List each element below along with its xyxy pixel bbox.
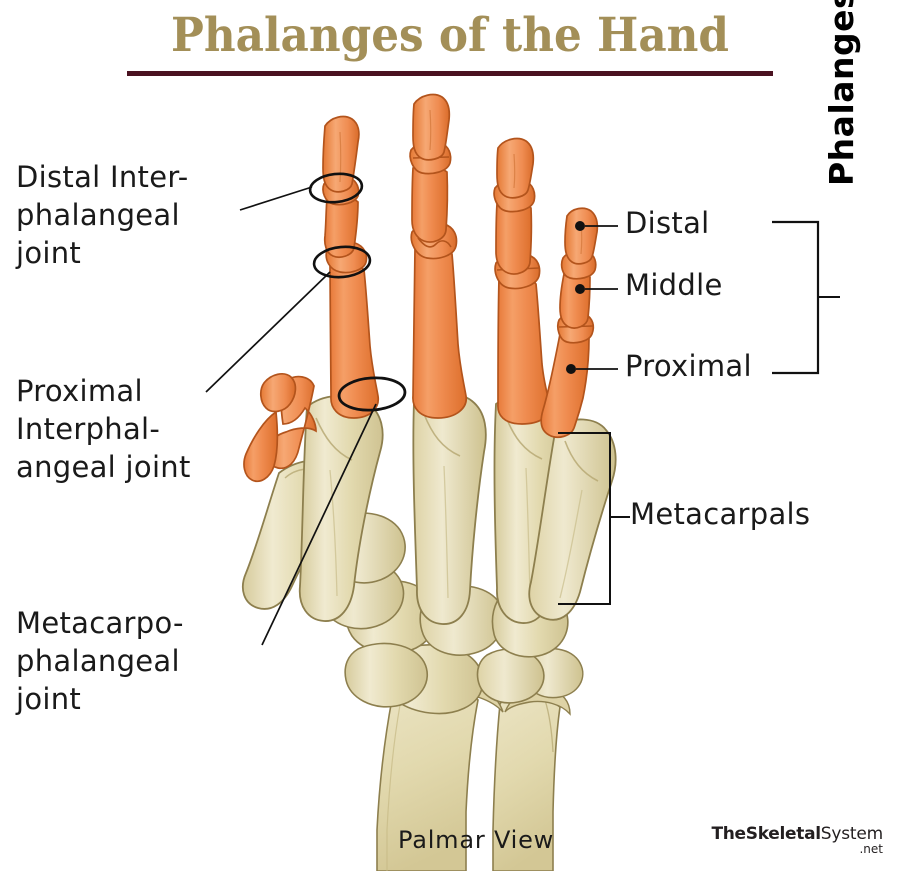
index-finger-phalanges — [323, 117, 378, 418]
pip-leader-line — [206, 272, 330, 392]
label-distal-interphalangeal-joint: Distal Inter- phalangeal joint — [16, 158, 189, 272]
phalanges-bracket — [772, 222, 818, 373]
label-phalanges-group: Phalanges — [822, 0, 861, 186]
little-finger-phalanges — [541, 208, 597, 437]
label-middle-phalanx: Middle — [625, 266, 723, 304]
middle-leader-dot — [575, 284, 585, 294]
watermark-bold-text: TheSkeletal — [711, 824, 820, 844]
middle-finger-phalanges — [410, 95, 466, 418]
label-metacarpals: Metacarpals — [630, 495, 810, 533]
bone-group — [243, 95, 616, 871]
label-metacarpophalangeal-joint: Metacarpo- phalangeal joint — [16, 604, 184, 718]
ring-finger-phalanges — [494, 139, 550, 424]
proximal-leader-dot — [566, 364, 576, 374]
label-proximal-phalanx: Proximal — [625, 347, 752, 385]
caption-palmar-view: Palmar View — [398, 826, 554, 854]
label-proximal-interphalangeal-joint: Proximal Interphal- angeal joint — [16, 372, 191, 486]
watermark: TheSkeletalSystem .net — [711, 826, 883, 857]
distal-leader-dot — [575, 221, 585, 231]
label-distal-phalanx: Distal — [625, 204, 710, 242]
dip-leader-line — [240, 187, 312, 210]
diagram-page: Phalanges of the Hand — [0, 0, 900, 871]
